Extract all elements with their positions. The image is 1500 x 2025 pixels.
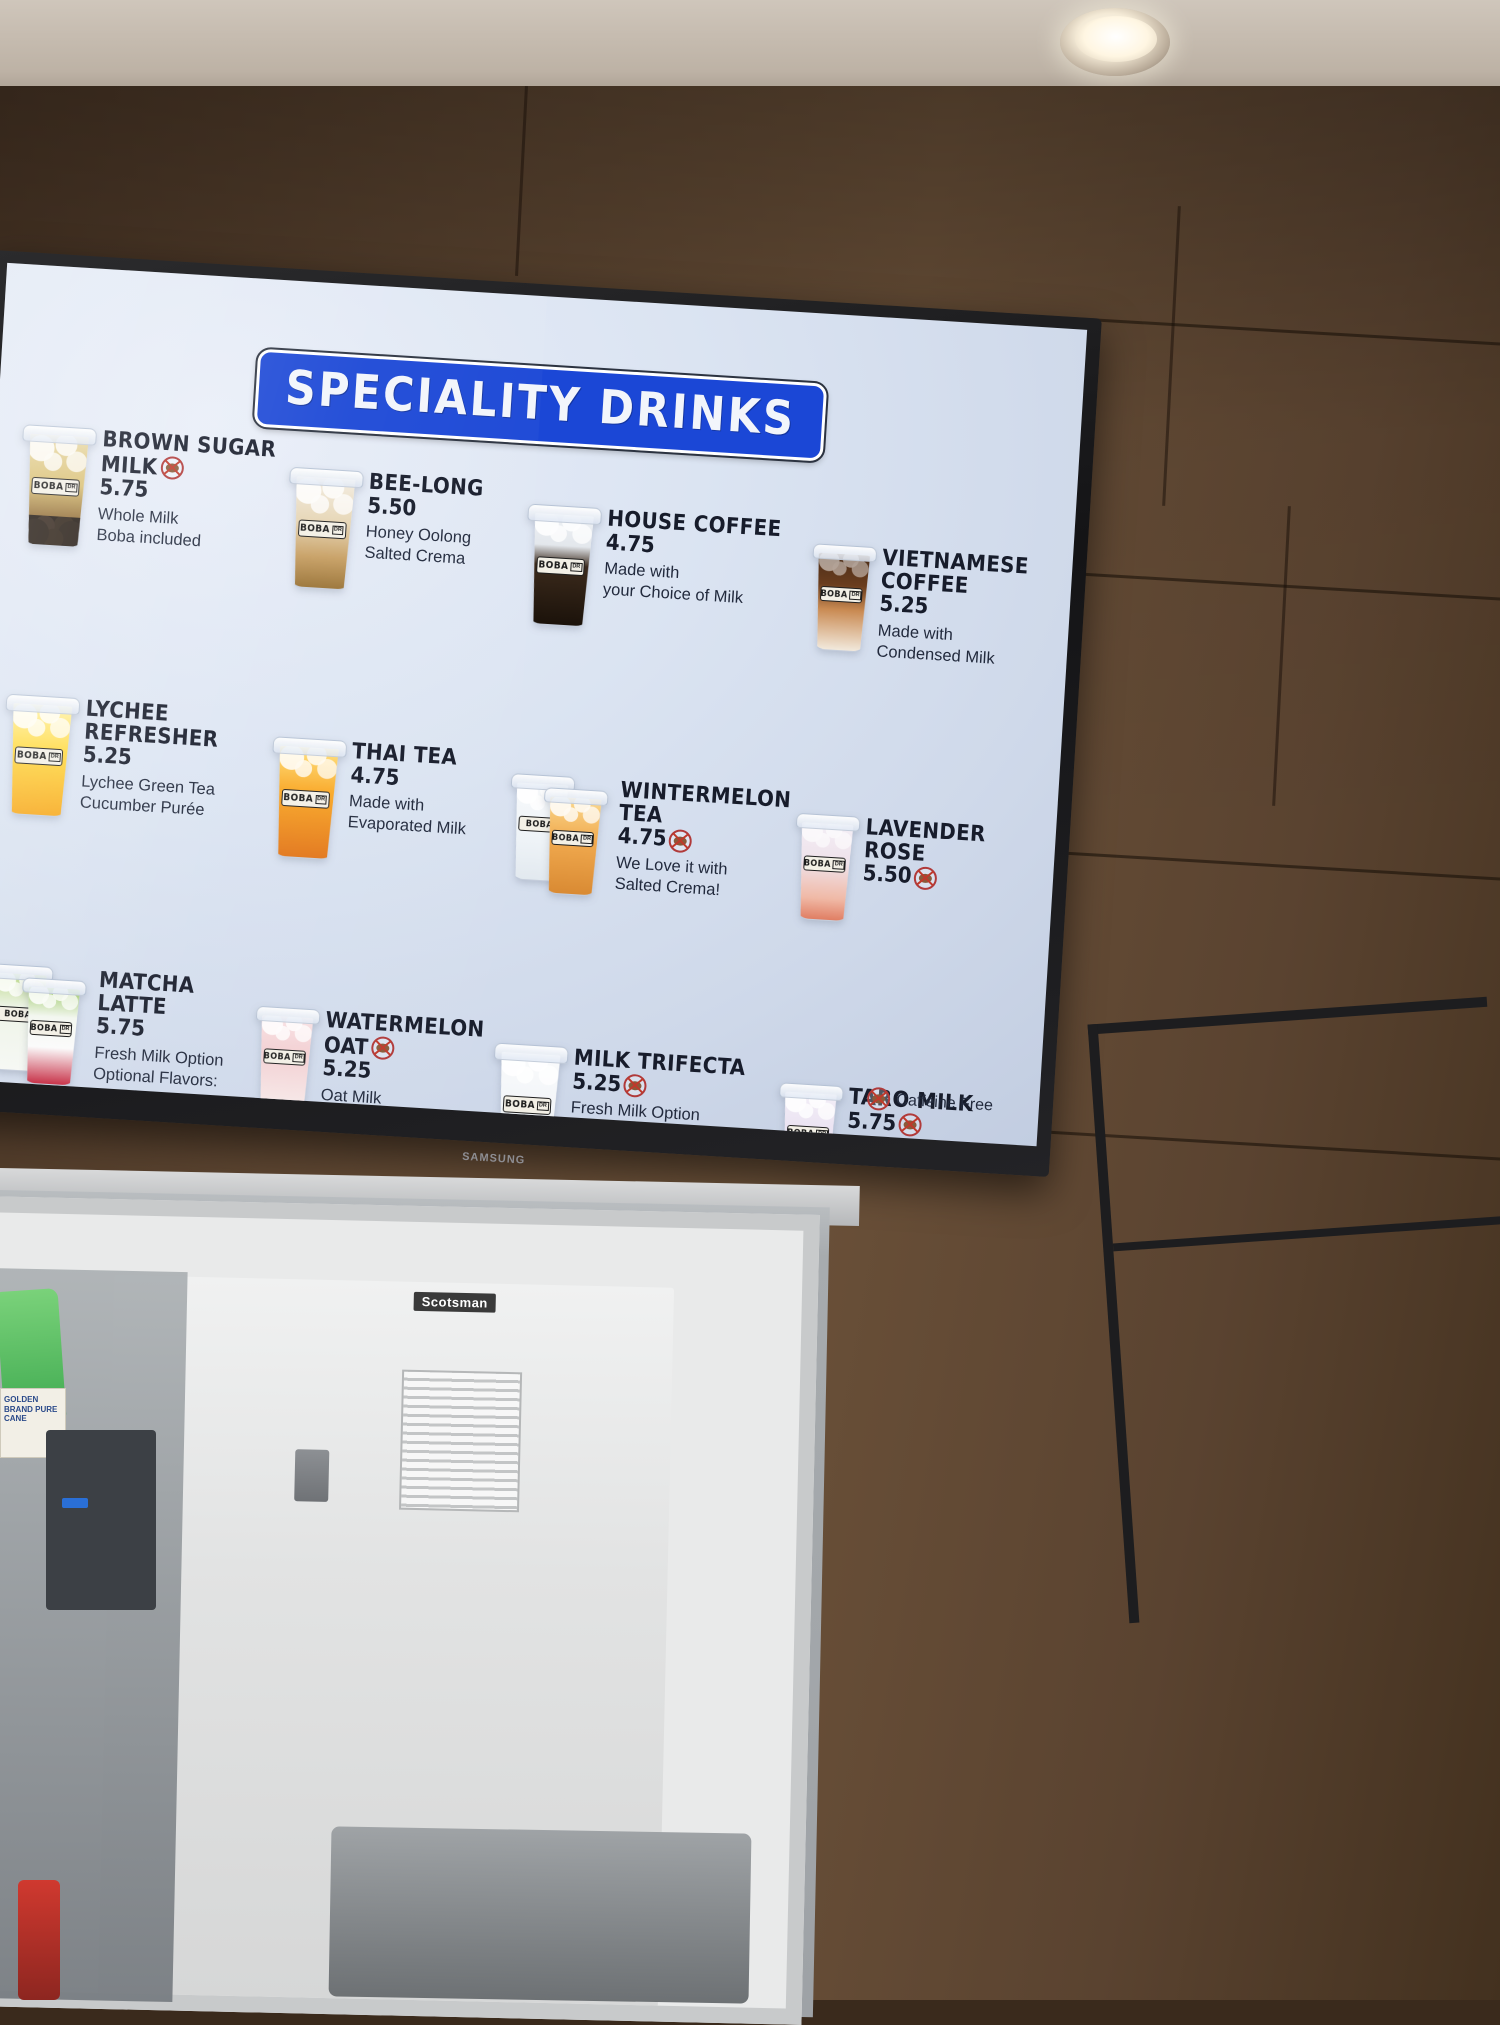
item-price: 5.25 bbox=[322, 1057, 372, 1085]
lavender-rose-cup-icon: BOBADR bbox=[790, 807, 861, 923]
lychee-refresher-cup-icon: BOBADR bbox=[0, 688, 81, 820]
equipment-panel bbox=[46, 1430, 156, 1610]
menu-item-milk-trifecta[interactable]: BOBADR MILK TRIFECTA 5.25 Fresh Milk Opt… bbox=[482, 1037, 775, 1147]
item-price: 5.75 bbox=[99, 476, 149, 504]
item-price: 4.75 bbox=[605, 531, 655, 559]
drinks-grid: BOBADR BROWN SUGAR MILK 5.75 Whole MilkB… bbox=[0, 418, 1052, 1146]
menu-item-lavender-rose[interactable]: BOBADR LAVENDER ROSE 5.50 bbox=[785, 807, 1031, 1011]
item-price: 5.75 bbox=[847, 1109, 897, 1137]
red-equipment bbox=[18, 1880, 60, 2000]
item-price: 5.25 bbox=[572, 1070, 622, 1098]
item-price: 5.50 bbox=[367, 494, 417, 522]
menu-item-brown-sugar-milk[interactable]: BOBADR BROWN SUGAR MILK 5.75 Whole MilkB… bbox=[8, 418, 286, 694]
menu-item-wintermelon-tea[interactable]: BOBA BOBADR WINTERMELON TEA bbox=[499, 767, 792, 996]
counter-machine bbox=[329, 1826, 752, 2003]
menu-item-thai-tea[interactable]: BOBADR THAI TEA 4.75 Made withEvaporated… bbox=[259, 730, 507, 978]
matcha-latte-cup-pair-icon: BOBA BOBADR bbox=[0, 957, 94, 1091]
watermelon-oat-cup-icon: BOBADR bbox=[250, 1000, 321, 1116]
ice-machine-brand: Scotsman bbox=[414, 1292, 497, 1313]
menu-board: SPECIALITY DRINKS bbox=[0, 263, 1087, 1146]
wintermelon-tea-cup-pair-icon: BOBA BOBADR bbox=[504, 767, 616, 901]
house-coffee-cup-icon: BOBADR bbox=[521, 498, 603, 630]
menu-item-bee-long[interactable]: BOBADR BEE-LONG 5.50 Honey OolongSalted … bbox=[276, 461, 524, 709]
cup-logo-mark: DR bbox=[65, 483, 77, 492]
item-price: 5.75 bbox=[95, 1015, 145, 1043]
item-price: 5.25 bbox=[82, 744, 132, 772]
led-indicator bbox=[62, 1498, 88, 1508]
room-scene: SPECIALITY DRINKS bbox=[0, 0, 1500, 2000]
cup-logo-text: BOBA bbox=[33, 480, 64, 493]
item-price: 4.75 bbox=[350, 764, 400, 792]
sugar-box-label: GOLDEN BRAND PURE CANE bbox=[1, 1389, 65, 1424]
page-title: SPECIALITY DRINKS bbox=[284, 360, 798, 447]
item-price: 4.75 bbox=[617, 825, 667, 853]
item-description: Whole MilkBoba included bbox=[96, 504, 281, 557]
item-description: Oat MilkWatermelon Purée bbox=[319, 1085, 486, 1137]
caffeine-free-icon bbox=[622, 1074, 646, 1098]
item-description: Fresh Milk OptionIncludes: Red Bean,Lych… bbox=[568, 1098, 743, 1147]
item-price: 5.50 bbox=[862, 862, 912, 890]
item-description: Lychee Green TeaCucumber Purée bbox=[79, 771, 264, 824]
item-description: Made withEvaporated Milk bbox=[347, 791, 468, 840]
tv-bezel: SPECIALITY DRINKS bbox=[0, 250, 1102, 1177]
menu-board-tv: SPECIALITY DRINKS bbox=[0, 250, 1102, 1177]
caffeine-free-icon bbox=[160, 455, 184, 479]
thai-tea-cup-icon: BOBADR bbox=[265, 730, 347, 862]
caffeine-free-icon bbox=[867, 1087, 891, 1111]
item-price: 5.25 bbox=[879, 593, 929, 621]
menu-item-watermelon-oat[interactable]: BOBADR WATERMELON OAT 5.25 Oat MilkWater… bbox=[242, 1000, 490, 1147]
vent-grille bbox=[399, 1370, 522, 1513]
metal-rack bbox=[1088, 997, 1500, 1623]
legend-label: Caffeine Free bbox=[896, 1091, 994, 1115]
menu-item-lychee-refresher[interactable]: BOBADR LYCHEE REFRESHER 5.25 Lychee Gree… bbox=[0, 688, 269, 964]
brown-sugar-milk-cup-icon: BOBADR bbox=[16, 418, 98, 550]
ceiling-light-lens bbox=[1075, 16, 1157, 62]
item-description: Honey OolongSalted Crema bbox=[364, 522, 481, 571]
menu-item-house-coffee[interactable]: BOBADR HOUSE COFFEE 4.75 Made withyour C… bbox=[515, 498, 808, 727]
caffeine-free-icon bbox=[913, 866, 937, 890]
caffeine-free-icon bbox=[668, 829, 692, 853]
caffeine-free-icon bbox=[897, 1113, 921, 1137]
menu-item-vietnamese-coffee[interactable]: BOBADR VIETNAMESE COFFEE 5.25 Made withC… bbox=[802, 537, 1048, 741]
item-description: We Love it withSalted Crema! bbox=[614, 853, 787, 906]
taro-milk-cup-icon: BOBADR bbox=[773, 1076, 844, 1146]
item-description: Made withyour Choice of Milk bbox=[602, 559, 779, 612]
caffeine-free-icon bbox=[371, 1036, 395, 1060]
vietnamese-coffee-cup-icon: BOBADR bbox=[807, 537, 878, 653]
item-description: Made withCondensed Milk bbox=[876, 620, 1043, 672]
bee-long-cup-icon: BOBADR bbox=[282, 461, 364, 593]
tv-screen: SPECIALITY DRINKS bbox=[0, 263, 1087, 1146]
door-handle bbox=[294, 1449, 329, 1502]
milk-trifecta-cup-icon: BOBADR bbox=[487, 1037, 569, 1147]
